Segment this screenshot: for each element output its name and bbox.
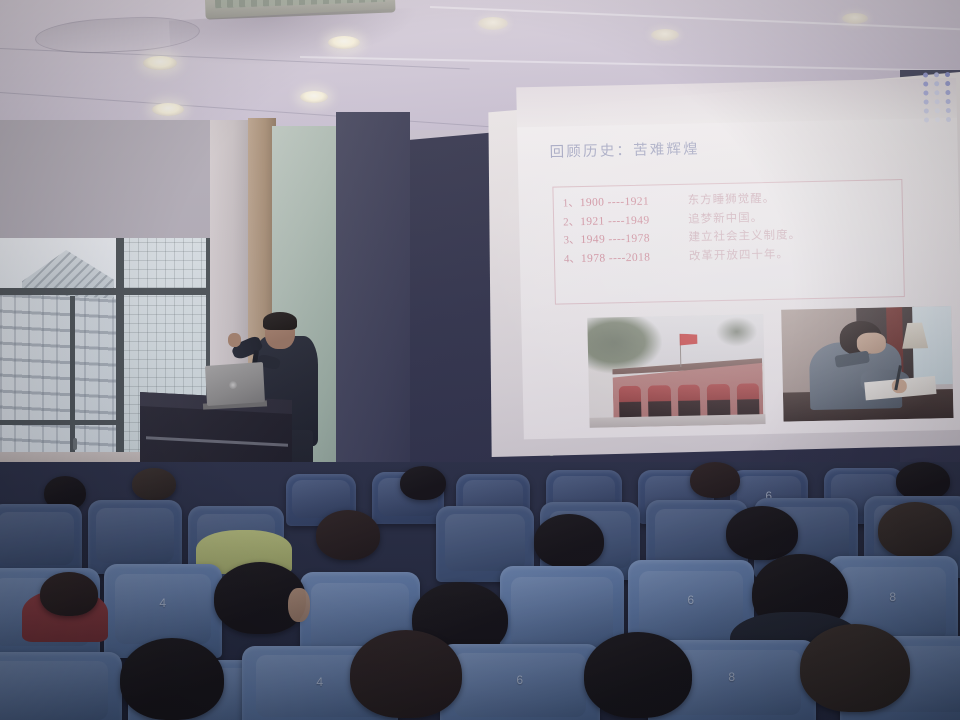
audience-head <box>584 632 692 718</box>
wall-beside-screen <box>336 112 410 494</box>
ceiling-panel-line <box>430 6 960 31</box>
projected-slide: 回顾历史：苦难辉煌 1、 1900 ----1921 东方睡狮觉醒。 2、 19… <box>490 68 960 450</box>
ceiling-downlight <box>143 56 177 70</box>
photo-tree <box>587 314 662 374</box>
seat-number: 4 <box>316 675 323 689</box>
audience-head <box>316 510 380 560</box>
photo-tree <box>715 316 758 347</box>
chair[interactable] <box>88 500 182 574</box>
seat-number: 6 <box>687 593 694 607</box>
audience-head <box>878 502 952 558</box>
slide-photo-official-signing-document <box>781 306 953 422</box>
ceiling-downlight <box>478 17 508 30</box>
slide-photo-wuchang-uprising-memorial <box>587 314 765 428</box>
ceiling-downlight <box>152 103 184 116</box>
audience-head <box>120 638 224 720</box>
audience-head <box>40 572 98 616</box>
audience-head <box>400 466 446 500</box>
list-index: 2、 <box>563 213 580 229</box>
presenter-raised-hand <box>228 333 241 347</box>
list-index: 4、 <box>564 250 581 266</box>
seat-number: 8 <box>889 590 896 604</box>
list-label: 追梦新中国。 <box>688 209 763 227</box>
audience-area: 6 4 6 8 <box>0 462 960 720</box>
slide-timeline-list: 1、 1900 ----1921 东方睡狮觉醒。 2、 1921 ----194… <box>563 187 903 268</box>
lecture-hall-photo: 回顾历史：苦难辉煌 1、 1900 ----1921 东方睡狮觉醒。 2、 19… <box>0 0 960 720</box>
list-index: 1、 <box>563 194 580 210</box>
presenter-hair <box>263 312 297 330</box>
audience-head <box>800 624 910 712</box>
audience-head <box>726 506 798 560</box>
list-years: 1978 ----2018 <box>581 250 689 264</box>
seat-number: 6 <box>516 673 523 687</box>
chair[interactable]: 6 <box>440 644 600 720</box>
list-label: 东方睡狮觉醒。 <box>688 190 776 208</box>
list-label: 建立社会主义制度。 <box>688 226 801 244</box>
ceiling-downlight <box>842 13 868 24</box>
chair[interactable] <box>0 504 82 576</box>
window-latch[interactable] <box>73 438 77 450</box>
list-label: 改革开放四十年。 <box>689 245 789 263</box>
window-frame-horizontal <box>0 420 120 425</box>
seat-number: 4 <box>159 596 166 610</box>
ceiling-downlight <box>300 91 328 103</box>
ceiling-downlight <box>328 36 360 49</box>
audience-head <box>132 468 176 500</box>
list-years: 1921 ----1949 <box>580 213 688 227</box>
seat-number: 8 <box>728 670 735 684</box>
audience-head <box>350 630 462 718</box>
audience-head <box>896 462 950 500</box>
audience-face <box>288 588 310 622</box>
ceiling-downlight <box>651 29 679 41</box>
window-frame-horizontal <box>0 288 218 295</box>
list-years: 1949 ----1978 <box>580 232 688 246</box>
audience-head <box>534 514 604 568</box>
slide-dot-decoration <box>923 72 953 123</box>
chair[interactable] <box>0 652 122 720</box>
audience-head <box>690 462 740 498</box>
list-index: 3、 <box>563 231 580 247</box>
photo-red-flag <box>679 333 697 345</box>
ac-grille <box>215 0 386 8</box>
list-years: 1900 ----1921 <box>580 195 688 209</box>
slide-title: 回顾历史：苦难辉煌 <box>549 137 700 161</box>
